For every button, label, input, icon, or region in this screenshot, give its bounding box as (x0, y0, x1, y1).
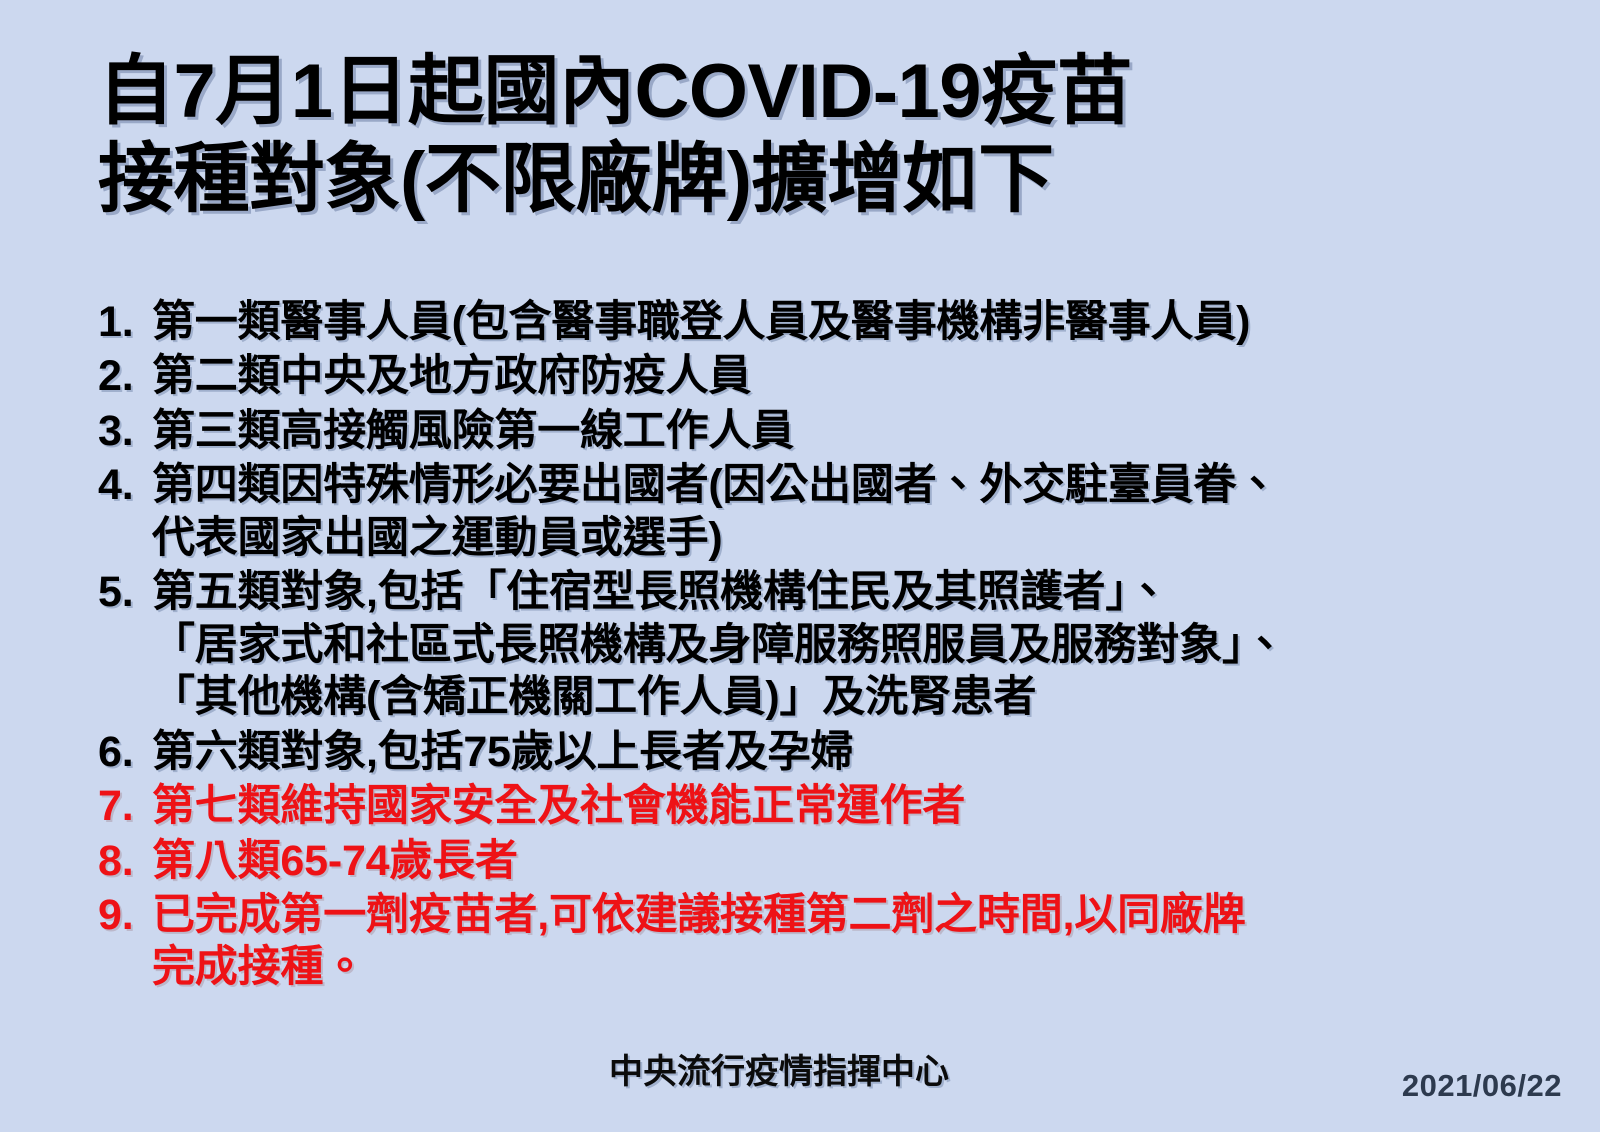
list-item-number: 4. (98, 459, 152, 511)
vaccination-category-list: 1. 第一類醫事人員(包含醫事職登人員及醫事機構非醫事人員) 2. 第二類中央及… (98, 296, 1518, 996)
list-item: 8. 第八類65-74歲長者 (98, 835, 1518, 887)
list-item: 3. 第三類高接觸風險第一線工作人員 (98, 405, 1518, 457)
list-item: 1. 第一類醫事人員(包含醫事職登人員及醫事機構非醫事人員) (98, 296, 1518, 348)
page-title: 自7月1日起國內COVID-19疫苗 接種對象(不限廠牌)擴增如下 (98, 48, 1398, 224)
footer-date: 2021/06/22 (1402, 1068, 1562, 1104)
list-item-text: 第八類65-74歲長者 (152, 835, 1518, 887)
list-item: 2. 第二類中央及地方政府防疫人員 (98, 350, 1518, 402)
list-item-number: 5. (98, 566, 152, 618)
list-item-number: 2. (98, 350, 152, 402)
footer-organization: 中央流行疫情指揮中心 (0, 1044, 1600, 1093)
list-item-number: 6. (98, 726, 152, 778)
list-item-text: 第三類高接觸風險第一線工作人員 (152, 405, 1518, 457)
list-item-text: 第六類對象,包括75歲以上長者及孕婦 (152, 726, 1518, 778)
list-item-text: 已完成第一劑疫苗者,可依建議接種第二劑之時間,以同廠牌 完成接種。 (152, 889, 1518, 994)
list-item-number: 7. (98, 780, 152, 832)
list-item: 4. 第四類因特殊情形必要出國者(因公出國者、外交駐臺員眷、 代表國家出國之運動… (98, 459, 1518, 564)
list-item-text: 第四類因特殊情形必要出國者(因公出國者、外交駐臺員眷、 代表國家出國之運動員或選… (152, 459, 1518, 564)
list-item-text: 第一類醫事人員(包含醫事職登人員及醫事機構非醫事人員) (152, 296, 1518, 348)
list-item: 7. 第七類維持國家安全及社會機能正常運作者 (98, 780, 1518, 832)
list-item-text: 第七類維持國家安全及社會機能正常運作者 (152, 780, 1518, 832)
list-item: 9. 已完成第一劑疫苗者,可依建議接種第二劑之時間,以同廠牌 完成接種。 (98, 889, 1518, 994)
slide-root: 自7月1日起國內COVID-19疫苗 接種對象(不限廠牌)擴增如下 1. 第一類… (0, 0, 1600, 1132)
list-item: 5. 第五類對象,包括「住宿型長照機構住民及其照護者」、 「居家式和社區式長照機… (98, 566, 1518, 723)
list-item-number: 9. (98, 889, 152, 941)
list-item-text: 第五類對象,包括「住宿型長照機構住民及其照護者」、 「居家式和社區式長照機構及身… (152, 566, 1518, 723)
footer-organization-label: 中央流行疫情指揮中心 (609, 1044, 949, 1093)
list-item-number: 8. (98, 835, 152, 887)
list-item-text: 第二類中央及地方政府防疫人員 (152, 350, 1518, 402)
list-item: 6. 第六類對象,包括75歲以上長者及孕婦 (98, 726, 1518, 778)
list-item-number: 1. (98, 296, 152, 348)
list-item-number: 3. (98, 405, 152, 457)
